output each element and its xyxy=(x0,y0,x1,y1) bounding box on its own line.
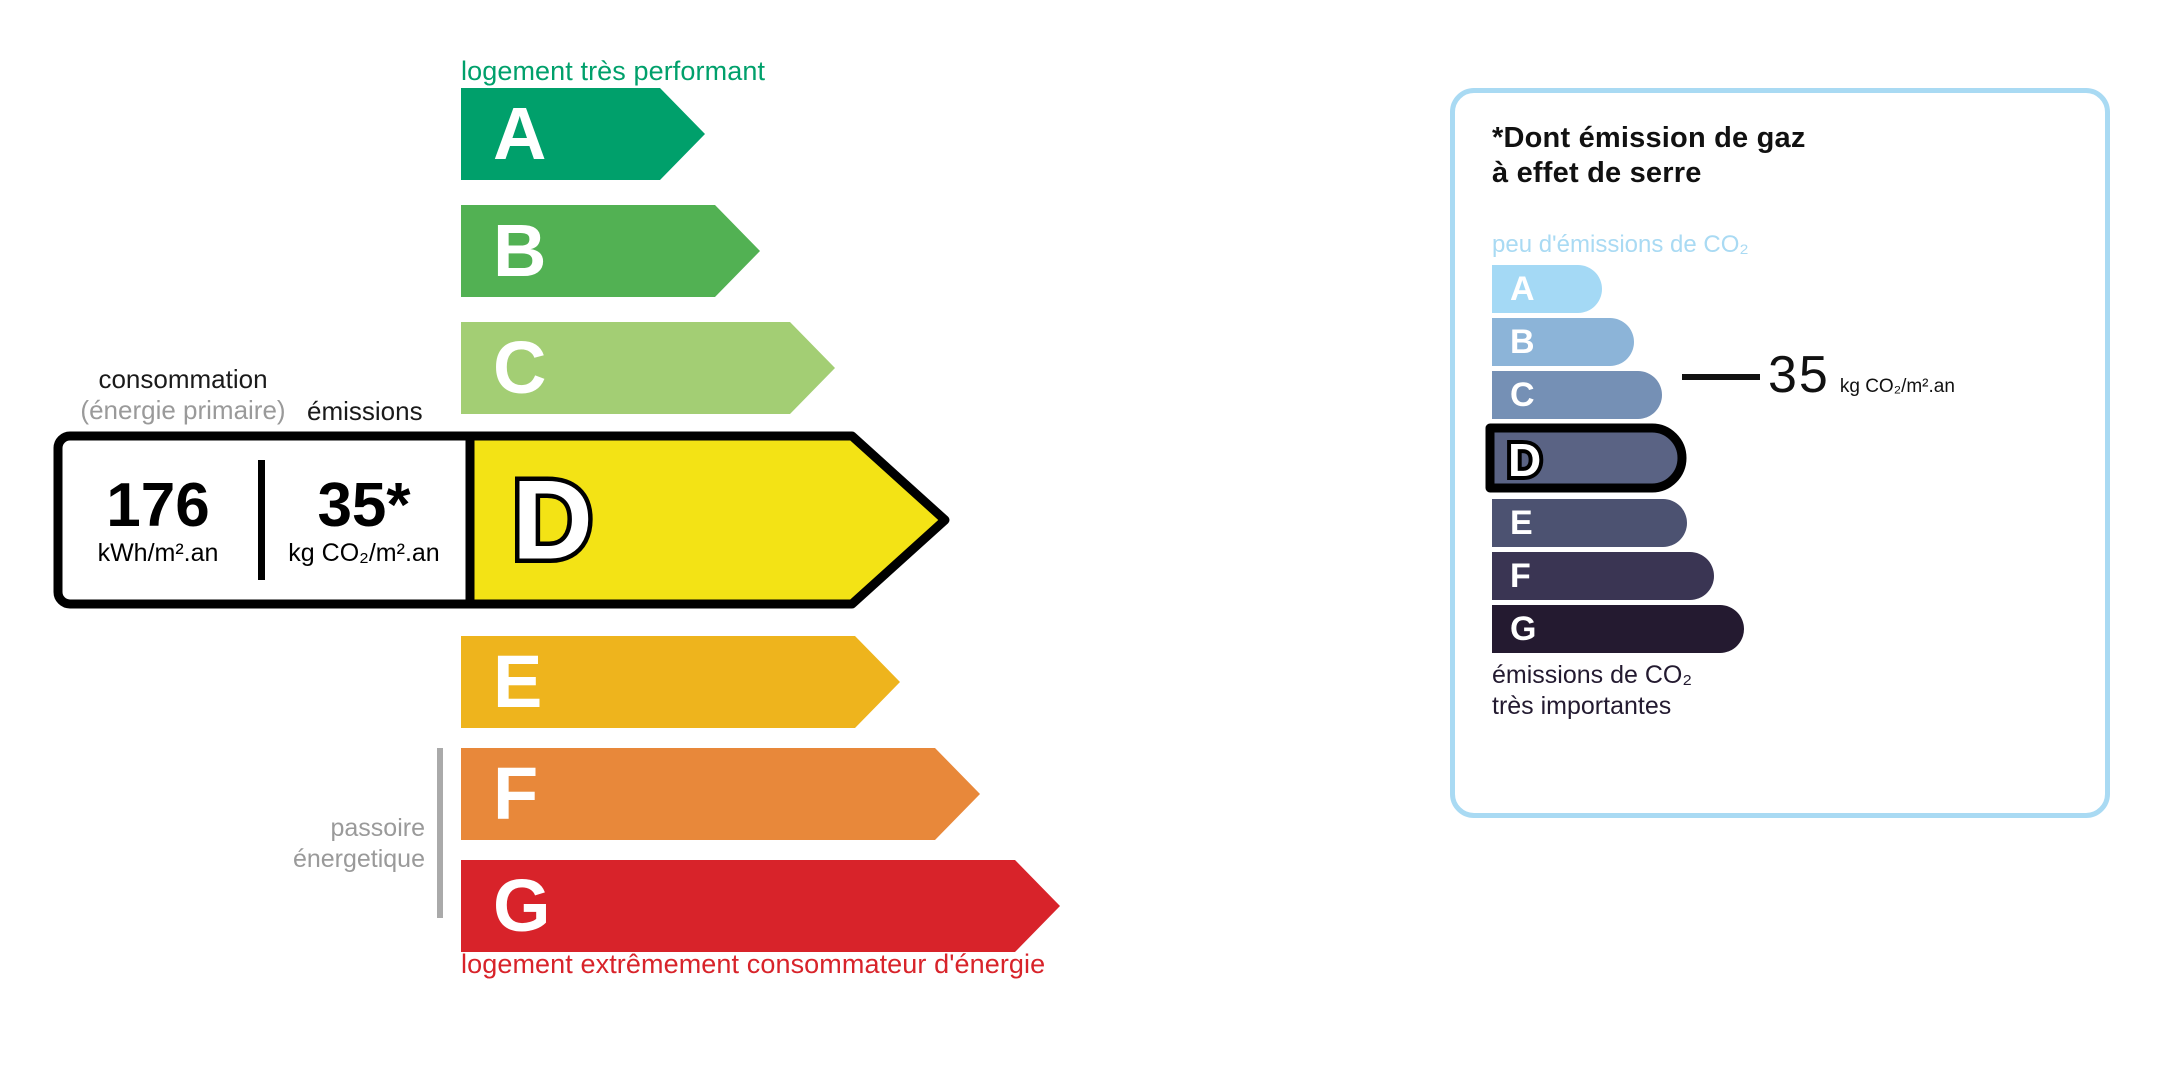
energy-letter-f: F xyxy=(493,757,538,831)
energy-arrow-body-a xyxy=(461,88,660,180)
co2-title-line1: *Dont émission de gaz xyxy=(1492,121,1806,156)
svg-text:D: D xyxy=(512,458,593,583)
passoire-label-line1: passoire xyxy=(240,813,425,844)
passoire-label-line2: énergetique xyxy=(240,844,425,875)
co2-callout-value: 35 xyxy=(1768,349,1830,401)
consumption-value: 176 xyxy=(106,474,209,537)
energy-row-g[interactable]: G xyxy=(461,860,1060,952)
co2-row-b[interactable]: B xyxy=(1492,318,1634,366)
co2-bottom-caption-line1: émissions de CO₂ xyxy=(1492,660,1692,691)
co2-letter-c: C xyxy=(1510,378,1535,412)
energy-row-f[interactable]: F xyxy=(461,748,980,840)
energy-arrow-tip-g xyxy=(1015,860,1060,952)
co2-top-caption: peu d'émissions de CO₂ xyxy=(1492,231,1749,259)
co2-letter-b: B xyxy=(1510,325,1535,359)
energy-letter-b: B xyxy=(493,214,546,288)
energy-row-b[interactable]: B xyxy=(461,205,760,297)
co2-row-f[interactable]: F xyxy=(1492,552,1714,600)
co2-callout-unit: kg CO₂/m².an xyxy=(1840,376,1955,398)
energy-row-c[interactable]: C xyxy=(461,322,835,414)
energy-arrow-tip-a xyxy=(660,88,705,180)
energy-letter-c: C xyxy=(493,331,546,405)
co2-value-callout: 35 kg CO₂/m².an xyxy=(1682,349,1955,401)
energy-row-a[interactable]: A xyxy=(461,88,705,180)
co2-callout-leader-line xyxy=(1682,374,1760,380)
consumption-value-cell: 176 kWh/m².an xyxy=(58,430,258,610)
energy-letter-e: E xyxy=(493,645,542,719)
passoire-label: passoire énergetique xyxy=(240,813,425,876)
energy-performance-panel: logement très performant A B C xyxy=(0,0,1380,1079)
co2-row-a[interactable]: A xyxy=(1492,265,1602,313)
svg-text:D: D xyxy=(1508,434,1541,486)
consumption-unit: kWh/m².an xyxy=(98,541,219,566)
co2-letter-f: F xyxy=(1510,559,1531,593)
consumption-label-line1: consommation xyxy=(60,364,306,395)
co2-bottom-caption-line2: très importantes xyxy=(1492,691,1692,722)
co2-title-line2: à effet de serre xyxy=(1492,156,1806,191)
energy-arrow-tip-c xyxy=(790,322,835,414)
energy-bottom-caption: logement extrêmement consommateur d'éner… xyxy=(461,949,1045,980)
energy-value-box: 176 kWh/m².an 35* kg CO₂/m².an xyxy=(52,430,470,610)
energy-letter-a: A xyxy=(493,97,546,171)
co2-row-c[interactable]: C xyxy=(1492,371,1662,419)
energy-letter-g: G xyxy=(493,869,551,943)
energy-arrow-tip-e xyxy=(855,636,900,728)
energy-row-e[interactable]: E xyxy=(461,636,900,728)
passoire-divider xyxy=(437,748,443,918)
co2-emissions-panel: *Dont émission de gaz à effet de serre p… xyxy=(1450,88,2110,818)
co2-letter-a: A xyxy=(1510,272,1535,306)
co2-letter-e: E xyxy=(1510,506,1533,540)
co2-panel-title: *Dont émission de gaz à effet de serre xyxy=(1492,121,1806,191)
emissions-value: 35* xyxy=(317,474,410,537)
co2-letter-g: G xyxy=(1510,612,1536,646)
dpe-diagram: logement très performant A B C xyxy=(0,0,2169,1079)
consumption-label: consommation (énergie primaire) xyxy=(60,364,306,425)
emissions-label: émissions xyxy=(307,396,423,427)
co2-row-e[interactable]: E xyxy=(1492,499,1687,547)
co2-bottom-caption: émissions de CO₂ très importantes xyxy=(1492,660,1692,721)
energy-arrow-tip-f xyxy=(935,748,980,840)
emissions-value-cell: 35* kg CO₂/m².an xyxy=(266,430,462,610)
co2-bar-fill-a xyxy=(1492,265,1602,313)
co2-row-d-selected[interactable]: D xyxy=(1484,422,1694,494)
emissions-unit: kg CO₂/m².an xyxy=(288,541,439,566)
energy-top-caption: logement très performant xyxy=(461,56,765,87)
consumption-label-line2: (énergie primaire) xyxy=(60,395,306,426)
energy-arrow-tip-b xyxy=(715,205,760,297)
co2-row-g[interactable]: G xyxy=(1492,605,1744,653)
